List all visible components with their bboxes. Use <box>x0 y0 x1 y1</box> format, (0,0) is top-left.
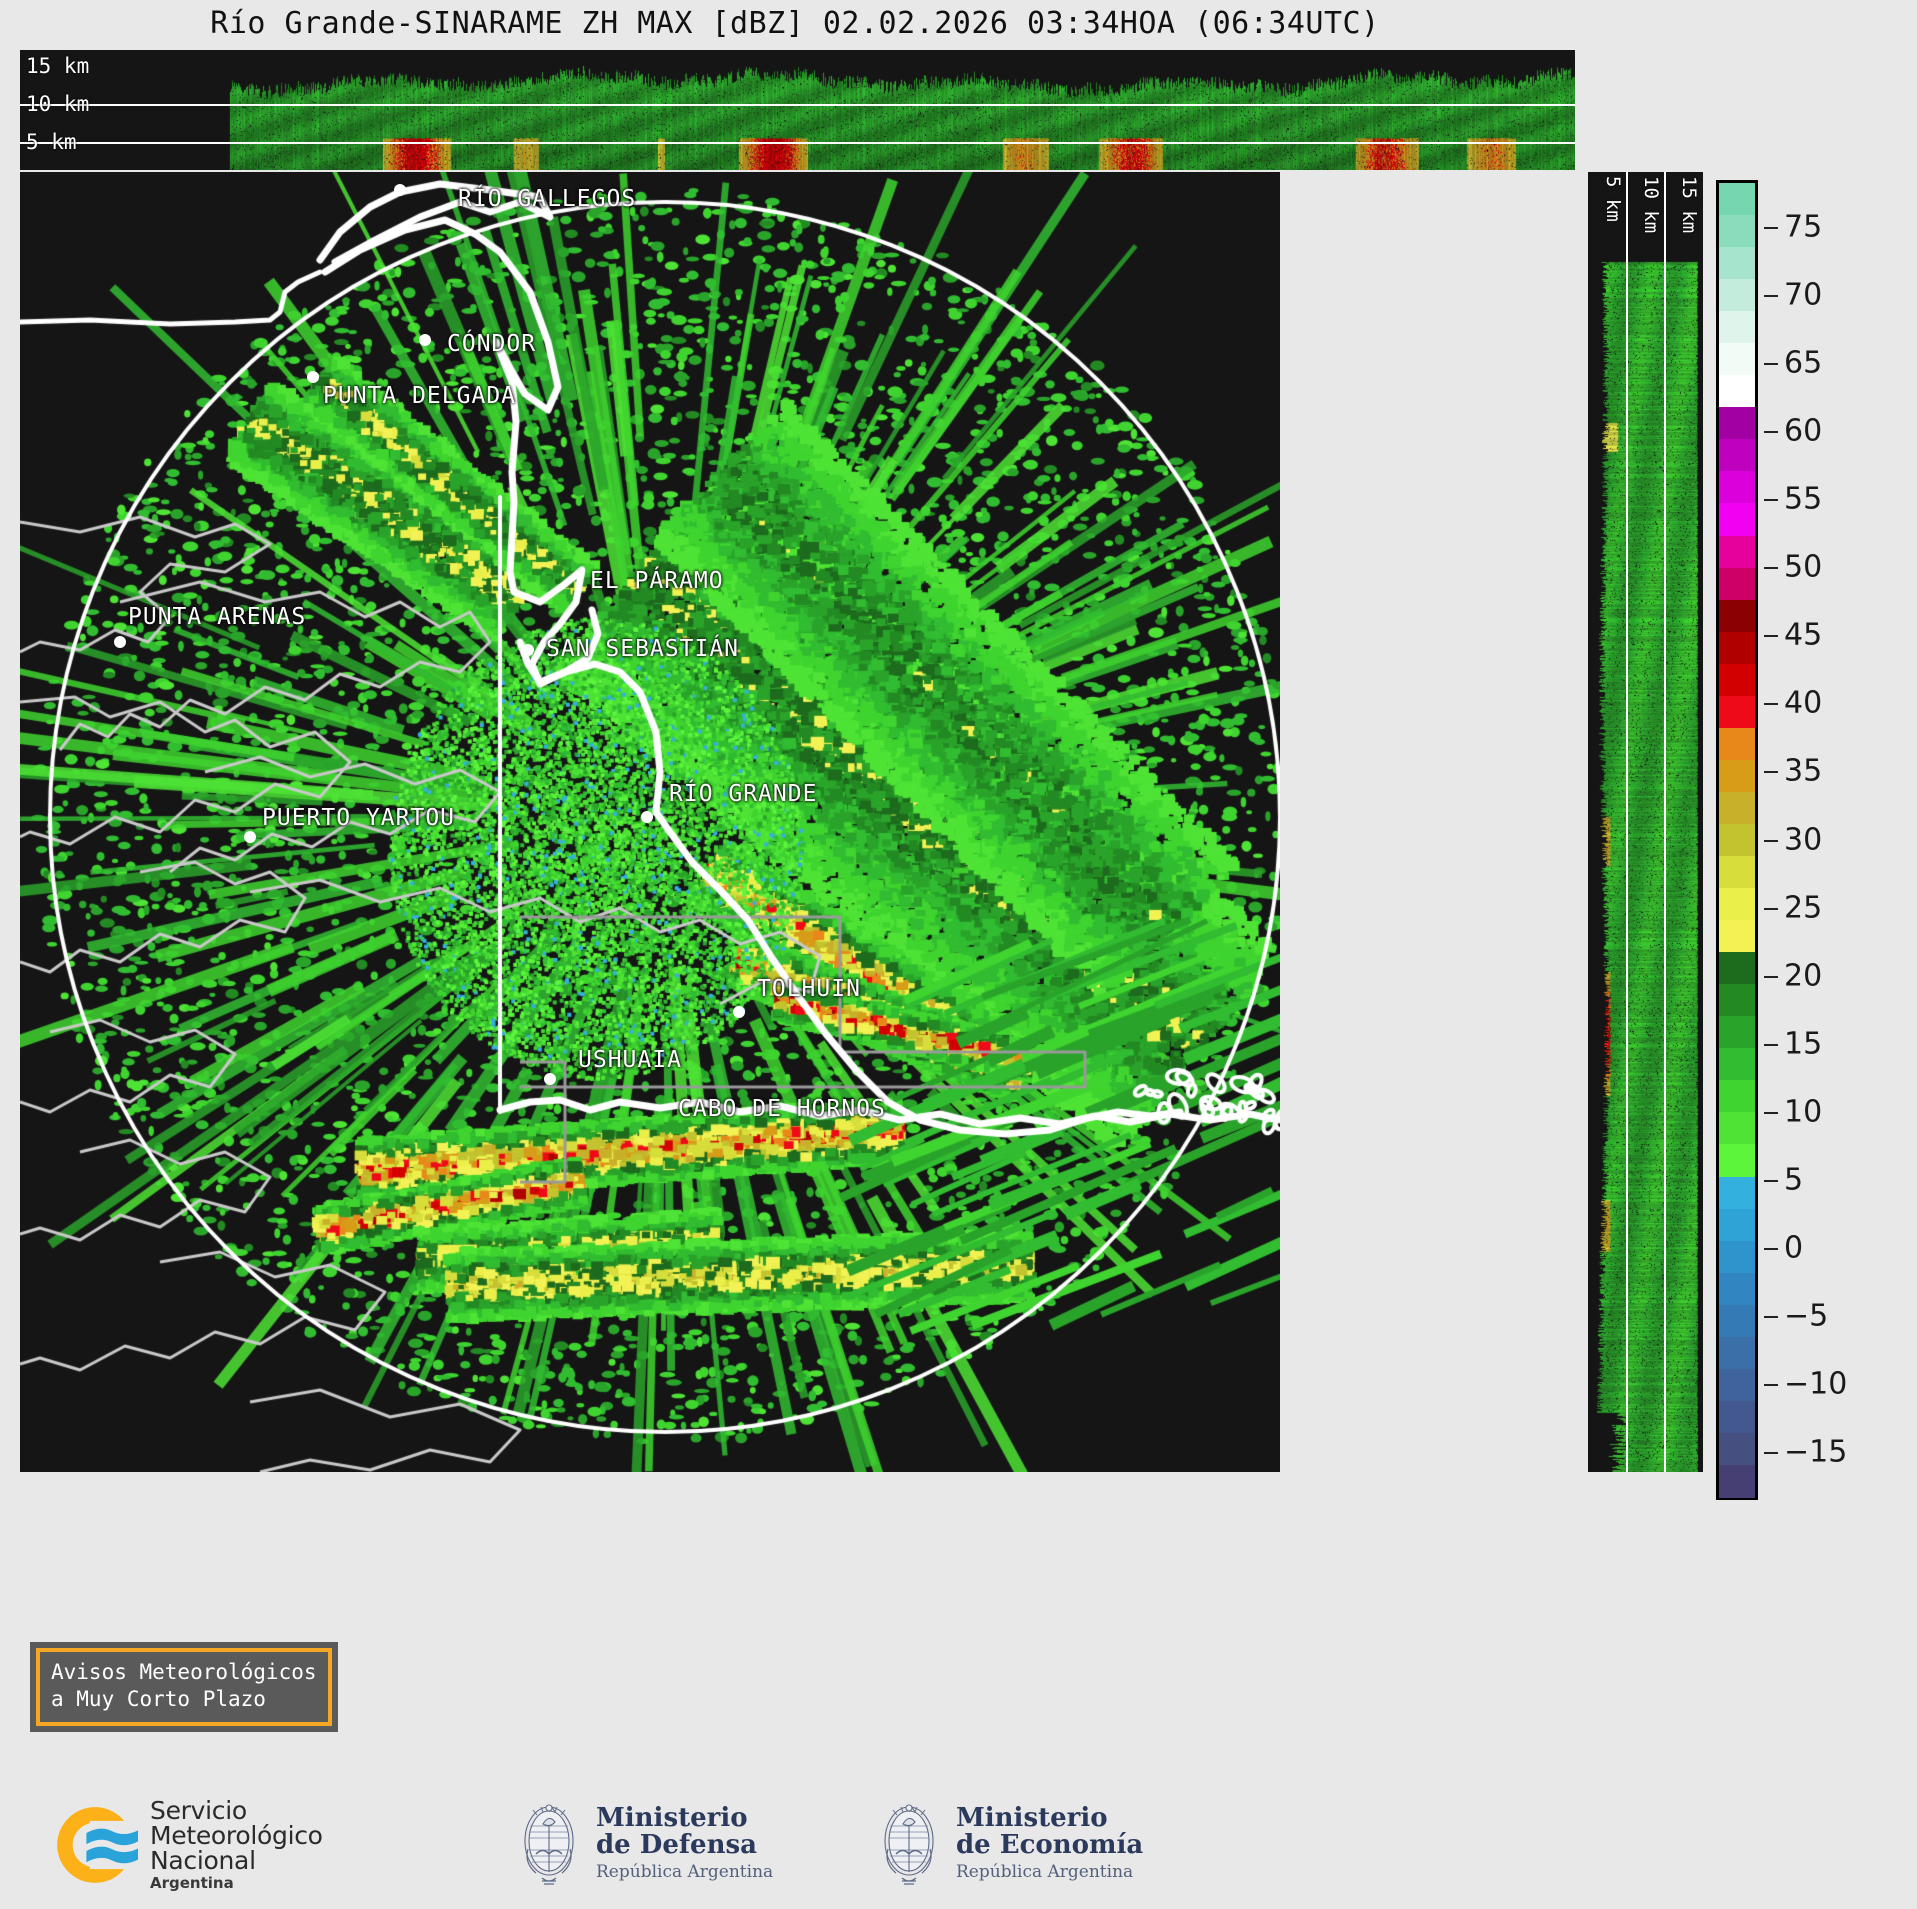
colorbar-tick <box>1764 431 1778 433</box>
avisos-line2: a Muy Corto Plazo <box>51 1686 317 1713</box>
colorbar-legend: 757065605550454035302520151050−5−10−15 <box>1716 180 1906 1500</box>
smn-line4: Argentina <box>150 1876 323 1891</box>
colorbar-tick <box>1764 567 1778 569</box>
colorbar-tick-label: −5 <box>1784 1298 1828 1333</box>
colorbar-segment <box>1719 503 1755 536</box>
city-marker-dot[interactable] <box>114 636 126 648</box>
colorbar-tick-label: 30 <box>1784 822 1822 857</box>
colorbar-segment <box>1719 664 1755 697</box>
colorbar-segment <box>1719 247 1755 280</box>
colorbar-tick <box>1764 1180 1778 1182</box>
xsec-right-gridline-10km <box>1664 172 1666 1472</box>
xsec-top-label-10km: 10 km <box>26 92 89 116</box>
colorbar-tick-label: 45 <box>1784 618 1822 653</box>
colorbar-segment <box>1719 696 1755 729</box>
colorbar-tick-label: 60 <box>1784 414 1822 449</box>
colorbar-segment <box>1719 1080 1755 1113</box>
ministerio-economia-text: Ministerio de Economía República Argenti… <box>956 1805 1143 1881</box>
cross-section-top-panel: 15 km 10 km 5 km <box>20 50 1575 170</box>
colorbar-segment <box>1719 1369 1755 1402</box>
colorbar-segment <box>1719 343 1755 376</box>
colorbar-tick <box>1764 1112 1778 1114</box>
city-marker-dot[interactable] <box>419 334 431 346</box>
colorbar-tick-label: 35 <box>1784 754 1822 789</box>
colorbar-tick-label: −15 <box>1784 1435 1847 1470</box>
colorbar-tick <box>1764 1248 1778 1250</box>
colorbar-tick-label: −10 <box>1784 1366 1847 1401</box>
colorbar-segment <box>1719 536 1755 569</box>
economia-line2: de Economía <box>956 1832 1143 1860</box>
defensa-line2: de Defensa <box>596 1832 773 1860</box>
colorbar-segment <box>1719 824 1755 857</box>
logo-smn: Servicio Meteorológico Nacional Argentin… <box>52 1798 323 1891</box>
colorbar-tick-label: 25 <box>1784 890 1822 925</box>
colorbar-tick-label: 75 <box>1784 210 1822 245</box>
colorbar-tick-label: 50 <box>1784 550 1822 585</box>
colorbar-tick <box>1764 1316 1778 1318</box>
defensa-line1: Ministerio <box>596 1805 773 1833</box>
colorbar-tick <box>1764 295 1778 297</box>
colorbar-segment <box>1719 952 1755 985</box>
city-marker-dot[interactable] <box>307 371 319 383</box>
xsec-top-label-15km: 15 km <box>26 54 89 78</box>
colorbar-segment <box>1719 600 1755 633</box>
colorbar-segment <box>1719 1241 1755 1274</box>
colorbar-tick <box>1764 703 1778 705</box>
colorbar-segment <box>1719 920 1755 953</box>
colorbar-segment <box>1719 311 1755 344</box>
ministerio-defensa-text: Ministerio de Defensa República Argentin… <box>596 1805 773 1881</box>
colorbar-tick <box>1764 1452 1778 1454</box>
colorbar-segment <box>1719 1305 1755 1338</box>
xsec-top-label-5km: 5 km <box>26 130 77 154</box>
colorbar-segment <box>1719 439 1755 472</box>
colorbar-segment <box>1719 1465 1755 1498</box>
city-marker-dot[interactable] <box>544 1073 556 1085</box>
logo-ministerio-defensa: Ministerio de Defensa República Argentin… <box>512 1794 773 1892</box>
colorbar-segment <box>1719 1048 1755 1081</box>
xsec-right-label-15km: 15 km <box>1678 176 1700 233</box>
smn-logo-text: Servicio Meteorológico Nacional Argentin… <box>150 1798 323 1891</box>
colorbar-tick-label: 10 <box>1784 1094 1822 1129</box>
xsec-top-gridline-10km <box>20 104 1575 106</box>
colorbar-segment <box>1719 1144 1755 1177</box>
colorbar-tick-label: 5 <box>1784 1162 1803 1197</box>
city-marker-dot[interactable] <box>641 811 653 823</box>
page-title: Río Grande-SINARAME ZH MAX [dBZ] 02.02.2… <box>0 6 1590 41</box>
colorbar-segment <box>1719 728 1755 761</box>
colorbar-segment <box>1719 1177 1755 1210</box>
city-marker-dot[interactable] <box>244 831 256 843</box>
colorbar-tick-label: 55 <box>1784 482 1822 517</box>
city-marker-dot[interactable] <box>733 1006 745 1018</box>
colorbar-segment <box>1719 888 1755 921</box>
colorbar-tick <box>1764 363 1778 365</box>
smn-line1: Servicio <box>150 1798 323 1823</box>
colorbar-segment <box>1719 215 1755 248</box>
colorbar-tick-label: 15 <box>1784 1026 1822 1061</box>
radar-ppi-panel[interactable]: RÍO GALLEGOSCÓNDORPUNTA DELGADAEL PÁRAMO… <box>20 172 1280 1472</box>
colorbar-segment <box>1719 856 1755 889</box>
colorbar-tick <box>1764 908 1778 910</box>
footer-logos: Servicio Meteorológico Nacional Argentin… <box>0 1780 1917 1909</box>
colorbar-tick <box>1764 635 1778 637</box>
colorbar-segment <box>1719 792 1755 825</box>
xsec-right-gridline-5km <box>1626 172 1628 1472</box>
colorbar-tick-label: 0 <box>1784 1230 1803 1265</box>
colorbar-gradient <box>1716 180 1758 1500</box>
colorbar-tick <box>1764 1044 1778 1046</box>
economia-line1: Ministerio <box>956 1805 1143 1833</box>
colorbar-tick <box>1764 771 1778 773</box>
colorbar-segment <box>1719 1401 1755 1434</box>
colorbar-segment <box>1719 375 1755 408</box>
colorbar-tick <box>1764 976 1778 978</box>
colorbar-segment <box>1719 1337 1755 1370</box>
smn-line2: Meteorológico <box>150 1823 323 1848</box>
colorbar-segment <box>1719 1112 1755 1145</box>
colorbar-segment <box>1719 760 1755 793</box>
colorbar-tick <box>1764 499 1778 501</box>
city-marker-dot[interactable] <box>522 644 534 656</box>
xsec-top-gridline-5km <box>20 142 1575 144</box>
colorbar-segment <box>1719 568 1755 601</box>
colorbar-tick-label: 70 <box>1784 278 1822 313</box>
colorbar-segment <box>1719 984 1755 1017</box>
smn-logo-icon <box>52 1802 138 1888</box>
avisos-badge[interactable]: Avisos Meteorológicos a Muy Corto Plazo <box>30 1642 338 1732</box>
colorbar-segment <box>1719 407 1755 440</box>
colorbar-tick-label: 20 <box>1784 958 1822 993</box>
cross-section-top-canvas <box>20 50 1575 170</box>
colorbar-segment <box>1719 1016 1755 1049</box>
colorbar-segment <box>1719 279 1755 312</box>
economia-line3: República Argentina <box>956 1863 1143 1881</box>
cross-section-right-panel: 5 km 10 km 15 km <box>1588 172 1703 1472</box>
argentina-coat-of-arms-icon <box>512 1794 586 1892</box>
argentina-coat-of-arms-icon-2 <box>872 1794 946 1892</box>
defensa-line3: República Argentina <box>596 1863 773 1881</box>
colorbar-tick <box>1764 227 1778 229</box>
colorbar-segment <box>1719 1209 1755 1242</box>
xsec-right-label-10km: 10 km <box>1640 176 1662 233</box>
colorbar-tick <box>1764 1384 1778 1386</box>
colorbar-segment <box>1719 632 1755 665</box>
city-marker-dot[interactable] <box>394 184 406 196</box>
smn-line3: Nacional <box>150 1848 323 1873</box>
colorbar-segment <box>1719 471 1755 504</box>
colorbar-segment <box>1719 1273 1755 1306</box>
colorbar-tick-label: 40 <box>1784 686 1822 721</box>
colorbar-segment <box>1719 183 1755 216</box>
avisos-badge-inner: Avisos Meteorológicos a Muy Corto Plazo <box>36 1648 332 1726</box>
logo-ministerio-economia: Ministerio de Economía República Argenti… <box>872 1794 1143 1892</box>
avisos-line1: Avisos Meteorológicos <box>51 1659 317 1686</box>
colorbar-tick <box>1764 840 1778 842</box>
colorbar-tick-label: 65 <box>1784 346 1822 381</box>
cross-section-right-canvas <box>1588 172 1703 1472</box>
xsec-right-label-5km: 5 km <box>1602 176 1624 222</box>
colorbar-segment <box>1719 1433 1755 1466</box>
